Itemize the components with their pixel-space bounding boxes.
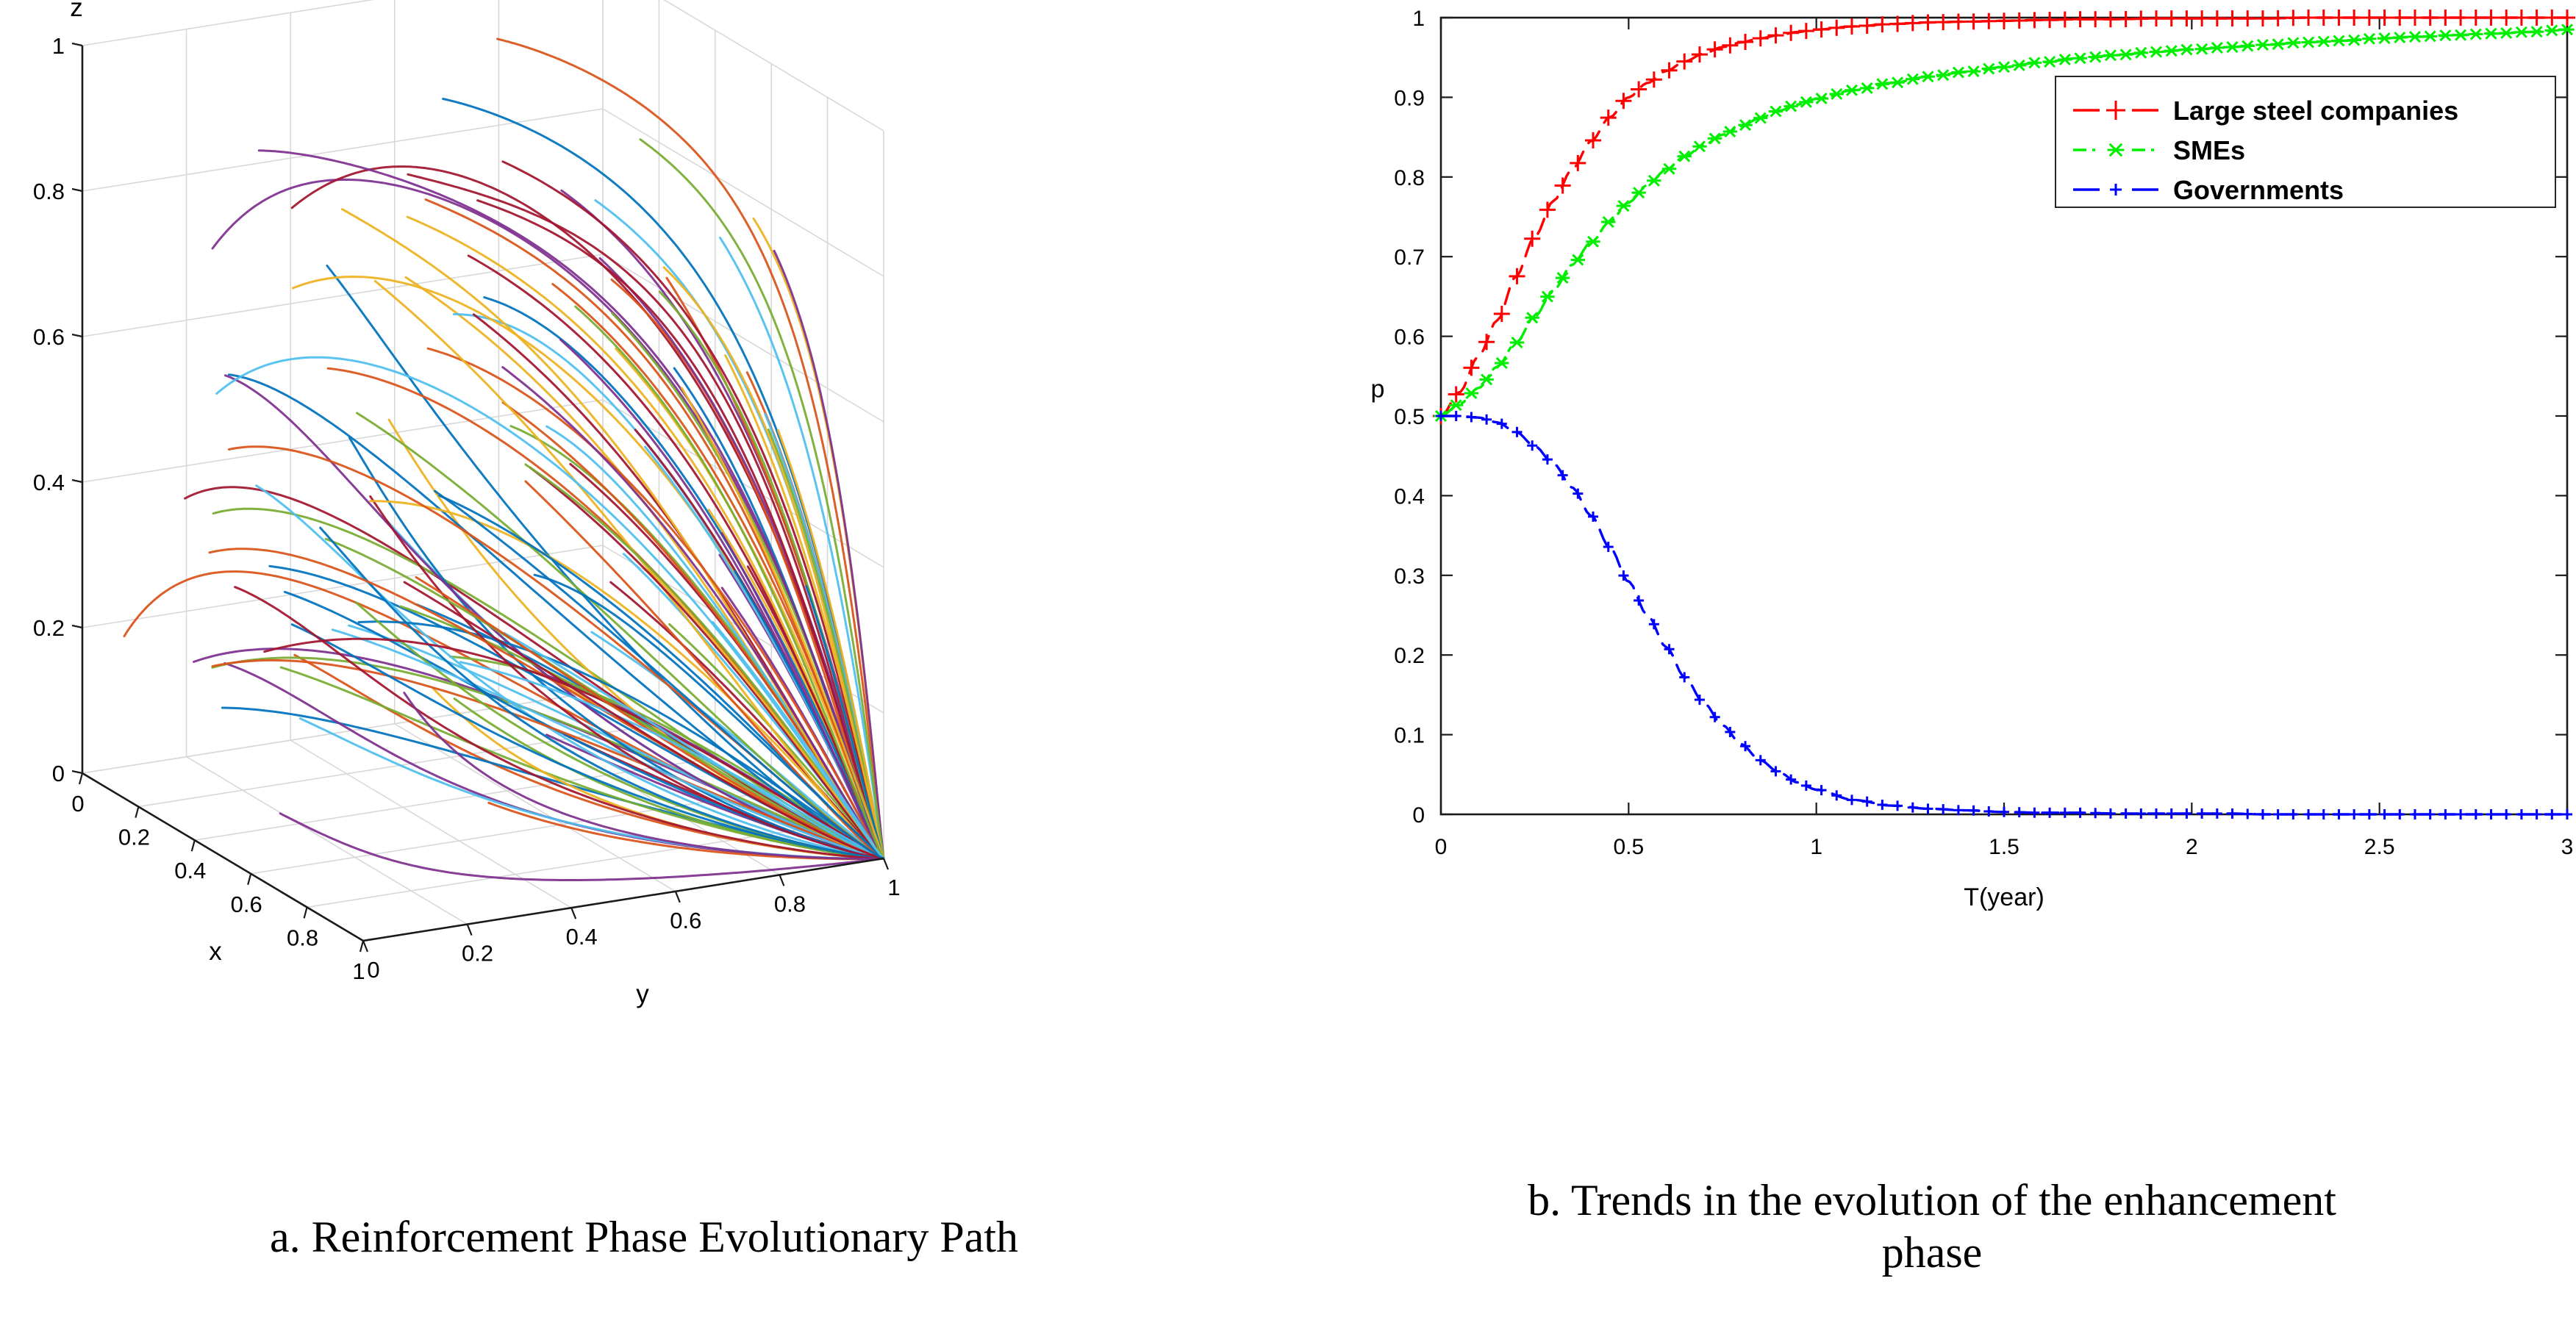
figure-row: 00.20.40.60.8100.20.40.60.8100.20.40.60.… — [0, 0, 2576, 1320]
caption-b: b. Trends in the evolution of the enhanc… — [1288, 1174, 2576, 1279]
grid-line-wall-x — [82, 254, 603, 337]
caption-a-text: a. Reinforcement Phase Evolutionary Path — [270, 1213, 1018, 1261]
y-axis-tick-label: 0.2 — [1394, 644, 1425, 668]
y-axis-tick-label: 0.7 — [1394, 245, 1425, 270]
axis-z-tick — [72, 189, 82, 191]
axis-z-tick — [72, 480, 82, 482]
axis-x-tick-label: 1 — [352, 958, 365, 984]
panel-a-3d-phase-portrait: 00.20.40.60.8100.20.40.60.8100.20.40.60.… — [0, 0, 1288, 1320]
chart-b-svg: 00.511.522.5300.10.20.30.40.50.60.70.80.… — [1288, 0, 2576, 1073]
y-axis-tick-label: 0.9 — [1394, 86, 1425, 110]
series-line-3 — [1441, 416, 2567, 814]
series-markers-3 — [1436, 411, 2572, 819]
x-axis-title: T(year) — [1964, 883, 2044, 911]
grid-line-floor — [187, 757, 468, 925]
x-axis-tick-label: 3 — [2561, 835, 2574, 859]
axis-z-tick-label: 0.4 — [33, 470, 65, 495]
legend-label-2: SMEs — [2173, 135, 2245, 165]
axis-z-tick-label: 0.6 — [33, 324, 65, 350]
axis-y-tick-label: 0 — [367, 957, 379, 983]
axis-y-tick — [676, 892, 680, 903]
axis-z-tick-label: 1 — [52, 33, 65, 59]
panel-b-evolution-lines: 00.511.522.5300.10.20.30.40.50.60.70.80.… — [1288, 0, 2576, 1320]
caption-b-line1: b. Trends in the evolution of the enhanc… — [1288, 1174, 2576, 1227]
axis-x-tick-label: 0.6 — [231, 892, 262, 917]
y-axis-title: p — [1371, 375, 1385, 403]
axis-x-tick-label: 0.4 — [174, 858, 206, 883]
axis-y-title: y — [636, 980, 649, 1008]
plot-b-area: 00.511.522.5300.10.20.30.40.50.60.70.80.… — [1288, 0, 2576, 1073]
y-axis-tick-label: 0.8 — [1394, 166, 1425, 190]
axis-z-tick-label: 0 — [52, 761, 65, 786]
axis-x-tick-label: 0.2 — [118, 825, 150, 850]
axis-x-line — [82, 773, 363, 941]
plot-a-area: 00.20.40.60.8100.20.40.60.8100.20.40.60.… — [0, 0, 1288, 1073]
plot-b-legend: Large steel companiesSMEsGovernments — [2056, 76, 2555, 207]
axis-z-tick — [72, 625, 82, 628]
y-axis-tick-label: 0.3 — [1394, 564, 1425, 589]
axis-z-tick — [72, 334, 82, 337]
axis-x-tick — [192, 840, 195, 851]
axis-x-tick-label: 0.8 — [287, 925, 318, 950]
axis-z-tick-label: 0.8 — [33, 179, 65, 204]
axis-y-tick-label: 0.4 — [566, 924, 598, 950]
y-axis-tick-label: 0.4 — [1394, 484, 1425, 509]
caption-a: a. Reinforcement Phase Evolutionary Path — [0, 1211, 1288, 1263]
legend-label-1: Large steel companies — [2173, 96, 2458, 126]
grid-line-wall-y — [603, 0, 884, 131]
axis-x-tick — [360, 941, 363, 952]
grid-line-floor — [290, 740, 571, 908]
axis-z-tick — [72, 771, 82, 773]
grid-line-wall-y — [603, 109, 884, 276]
x-axis-tick-label: 0 — [1435, 835, 1448, 859]
y-axis-tick-label: 0.1 — [1394, 724, 1425, 748]
plot-a-trajectories — [124, 39, 884, 880]
axis-y-tick — [884, 858, 888, 869]
axis-z-tick-label: 0.2 — [33, 615, 65, 641]
caption-b-line2: phase — [1288, 1227, 2576, 1279]
axis-y-tick — [571, 908, 576, 919]
axis-y-tick-label: 0.6 — [670, 908, 701, 933]
y-axis-tick-label: 0.5 — [1394, 405, 1425, 429]
y-axis-tick-label: 1 — [1412, 7, 1425, 31]
grid-line-floor — [307, 825, 828, 907]
axis-x-tick — [248, 874, 251, 885]
legend-label-3: Governments — [2173, 175, 2344, 205]
axis-x-tick-label: 0 — [71, 791, 84, 817]
axis-z-title: z — [70, 0, 83, 22]
x-axis-tick-label: 1.5 — [1989, 835, 2019, 859]
axis-y-tick — [779, 875, 784, 886]
x-axis-tick-label: 0.5 — [1613, 835, 1644, 859]
x-axis-tick-label: 2 — [2186, 835, 2198, 859]
y-axis-tick-label: 0 — [1412, 803, 1425, 828]
axis-y-tick — [468, 925, 472, 936]
axis-x-title: x — [209, 937, 222, 966]
chart-a-svg: 00.20.40.60.8100.20.40.60.8100.20.40.60.… — [0, 0, 1288, 1073]
axis-x-tick — [135, 807, 138, 818]
axis-x-tick — [79, 773, 82, 784]
axis-y-tick-label: 0.2 — [462, 941, 493, 966]
axis-y-tick-label: 0.8 — [774, 891, 806, 917]
axis-z-tick — [72, 43, 82, 46]
x-axis-tick-label: 1 — [1810, 835, 1822, 859]
x-axis-tick-label: 2.5 — [2364, 835, 2395, 859]
y-axis-tick-label: 0.6 — [1394, 326, 1425, 350]
axis-y-tick — [363, 941, 368, 952]
axis-y-tick-label: 1 — [887, 875, 900, 900]
axis-x-tick — [304, 907, 307, 918]
trajectory-line — [389, 420, 884, 858]
grid-line-wall-x — [82, 0, 603, 46]
